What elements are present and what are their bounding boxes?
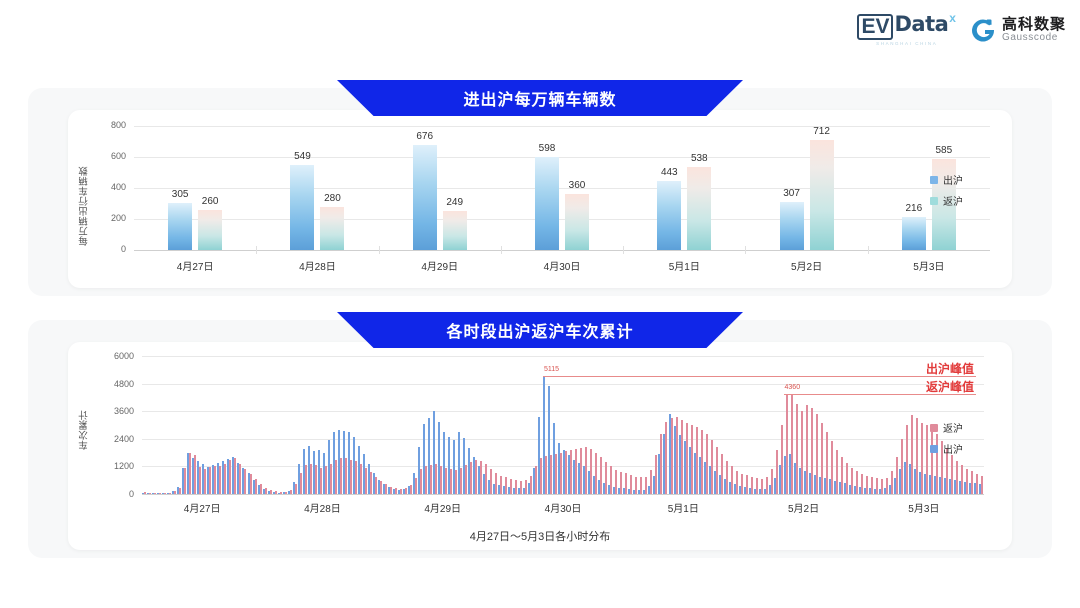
chart2-hour-bar (926, 425, 928, 494)
chart2-hour-bar (836, 450, 838, 494)
chart2-hour-bar (731, 466, 733, 494)
chart2-hour-bar (164, 493, 166, 494)
chart2-hour-bar (901, 439, 903, 494)
chart2-hour-bar (726, 461, 728, 494)
chart2-hour-bar (846, 463, 848, 494)
gausscode-logo: 高科数聚 Gausscode (970, 17, 1066, 43)
chart2-hour-bar (911, 415, 913, 494)
chart1-bar-value: 585 (924, 145, 964, 156)
chart2-hour-bar (916, 418, 918, 494)
chart2-hour-bar (585, 447, 587, 494)
chart2-hour-bar (650, 470, 652, 494)
chart2-hour-bar (305, 465, 307, 494)
chart1-y-tick: 600 (100, 151, 126, 161)
chart2-hour-bar (425, 466, 427, 494)
chart1-bar[interactable] (290, 165, 314, 250)
chart1-bar-value: 712 (802, 126, 842, 137)
chart2-hour-bar (786, 394, 788, 494)
chart2-hour-bar (330, 464, 332, 494)
chart2-hour-bar (144, 492, 146, 494)
chart2-hour-bar (776, 450, 778, 494)
chart2-hour-bar (696, 427, 698, 494)
chart2-hour-bar (600, 457, 602, 494)
panel-chart1-card: 每万辆出行车辆数 02004006008003052604月27日5492804… (68, 110, 1012, 288)
chart1-gridline (134, 157, 990, 158)
chart2-hour-bar (154, 493, 156, 494)
chart1-x-tick-label: 5月2日 (767, 258, 847, 273)
chart1-bar[interactable] (535, 157, 559, 250)
chart1-bar[interactable] (780, 202, 804, 250)
chart2-hour-bar (495, 473, 497, 494)
chart2-hour-bar (951, 455, 953, 494)
chart2-hour-bar (420, 469, 422, 494)
chart2-hour-bar (390, 487, 392, 494)
chart2-hour-bar (370, 472, 372, 494)
chart2-hour-bar (816, 414, 818, 495)
legend-swatch-fanhu2-icon (930, 424, 938, 432)
chart2-y-tick: 4800 (104, 379, 134, 389)
chart2-hour-bar (956, 461, 958, 494)
chart2-hour-bar (184, 468, 186, 494)
chart2-hour-bar (224, 464, 226, 494)
chart2-hour-bar (971, 471, 973, 494)
chart1-bar-value: 549 (282, 151, 322, 162)
chart2-y-tick: 6000 (104, 351, 134, 361)
chart1-bar-value: 280 (312, 193, 352, 204)
chart1-bar[interactable] (413, 145, 437, 250)
chart2-hour-bar (856, 471, 858, 494)
chart2-hour-bar (310, 464, 312, 494)
chart2-gridline (142, 356, 984, 357)
chart2-day-label: 4月29日 (403, 500, 483, 515)
chart2-hour-bar (169, 493, 171, 494)
chart1-y-tick: 400 (100, 182, 126, 192)
chart2-hour-bar (315, 465, 317, 494)
chart2-hour-bar (575, 449, 577, 494)
chart2-hour-bar (265, 488, 267, 494)
chart2-hour-bar (455, 470, 457, 494)
chart1-bar[interactable] (657, 181, 681, 250)
chart2-gridline (142, 439, 984, 440)
chart2-hour-bar (485, 464, 487, 494)
chart2-hour-bar (570, 450, 572, 494)
chart2-hour-bar (620, 472, 622, 494)
chart2-hour-bar (811, 408, 813, 494)
chart2-peak-value: 4360 (785, 384, 801, 391)
chart2-hour-bar (345, 458, 347, 494)
chart2-hour-bar (605, 462, 607, 494)
chart2-hour-bar (976, 474, 978, 494)
chart2-hour-bar (250, 474, 252, 494)
chart2-hour-bar (761, 479, 763, 494)
chart2-hour-bar (435, 464, 437, 494)
chart2-hour-bar (676, 417, 678, 494)
chart2-hour-bar (595, 453, 597, 494)
panel-chart2-card: 车次累计 0120024003600480060004月27日4月28日4月29… (68, 342, 1012, 550)
chart2-day-label: 5月1日 (643, 500, 723, 515)
chart2-hour-bar (806, 405, 808, 494)
chart2-hour-bar (550, 455, 552, 494)
chart2-hour-bar (821, 423, 823, 494)
chart2-hour-bar (234, 458, 236, 494)
chart2-hour-bar (660, 434, 662, 494)
chart1-bar-value: 216 (894, 203, 934, 214)
chart1-x-tick-label: 4月29日 (400, 258, 480, 273)
chart2-hour-bar (385, 484, 387, 494)
chart2-hour-bar (756, 478, 758, 494)
chart1-bar[interactable] (687, 167, 711, 250)
chart1-x-tick-label: 5月1日 (644, 258, 724, 273)
chart2-hour-bar (921, 423, 923, 494)
chart2-hour-bar (736, 471, 738, 494)
chart2-hour-bar (229, 460, 231, 495)
chart1-bar-value: 249 (435, 197, 475, 208)
chart2-day-label: 5月2日 (764, 500, 844, 515)
chart1-category-separator (623, 246, 624, 254)
chart2-hour-bar (781, 425, 783, 494)
chart2-peak-value: 5115 (544, 366, 559, 373)
chart2-hour-bar (400, 489, 402, 494)
chart2-hour-bar (851, 468, 853, 494)
chart2-hour-bar (640, 477, 642, 494)
chart2-hour-bar (239, 464, 241, 494)
chart2-hour-bar (415, 478, 417, 494)
chart2-hour-bar (525, 480, 527, 494)
chart2-hour-bar (445, 468, 447, 494)
chart2-hour-bar (711, 440, 713, 494)
chart2-hour-bar (480, 461, 482, 494)
evdata-ev-mark: EV (857, 14, 893, 40)
chart2-y-tick: 2400 (104, 434, 134, 444)
chart2-hour-bar (244, 469, 246, 494)
chart1-bar[interactable] (198, 210, 222, 250)
chart2-hour-bar (590, 449, 592, 494)
chart2-hour-bar (260, 484, 262, 494)
chart2-hour-bar (270, 490, 272, 494)
chart2-hour-bar (375, 477, 377, 494)
chart2-hour-bar (716, 447, 718, 494)
chart2-hour-bar (395, 488, 397, 494)
chart2-hour-bar (199, 467, 201, 494)
legend-item-chuhu-2[interactable]: 出沪 (930, 441, 963, 456)
page-root: EV Data x SHANGHAI CHINA 高科数聚 Gausscode (0, 0, 1080, 608)
chart2-hour-bar (540, 458, 542, 494)
chart1-category-separator (501, 246, 502, 254)
chart2-hour-bar (831, 441, 833, 494)
chart2-hour-bar (285, 492, 287, 494)
chart2-hour-bar (706, 434, 708, 494)
chart1-bar[interactable] (168, 203, 192, 250)
chart2-hour-bar (635, 477, 637, 494)
chart2-hour-bar (691, 425, 693, 494)
chart2-x-axis-subtitle: 4月27日～5月3日各小时分布 (68, 528, 1012, 544)
chart1-plot-area: 02004006008003052604月27日5492804月28日67624… (100, 126, 990, 276)
chart1-x-tick-label: 5月3日 (889, 258, 969, 273)
chart2-hour-bar (560, 453, 562, 494)
chart2-hour-bar (174, 491, 176, 494)
chart2-hour-bar (410, 485, 412, 494)
chart2-hour-bar (610, 466, 612, 494)
chart1-y-tick: 800 (100, 120, 126, 130)
chart2-hour-bar (430, 465, 432, 494)
chart2-hour-bar (625, 473, 627, 494)
chart2-hour-bar (671, 418, 673, 494)
chart2-hour-bar (290, 490, 292, 494)
chart1-bar-value: 360 (557, 180, 597, 191)
chart2-hour-bar (179, 488, 181, 494)
chart2-hour-bar (255, 479, 257, 494)
chart2-legend: 返沪 出沪 (930, 420, 963, 456)
chart2-hour-bar (871, 477, 873, 494)
chart1-bar-value: 538 (679, 153, 719, 164)
chart2-peak-label: 返沪峰值 (926, 378, 974, 395)
chart2-hour-bar (721, 454, 723, 494)
legend-label-chuhu: 出沪 (943, 172, 963, 187)
chart1-title: 进出沪每万辆车辆数 (463, 86, 616, 110)
chart2-hour-bar (340, 458, 342, 494)
chart1-bar[interactable] (320, 207, 344, 250)
legend-label-fanhu: 返沪 (943, 193, 963, 208)
legend-item-fanhu[interactable]: 返沪 (930, 193, 963, 208)
evdata-tagline: SHANGHAI CHINA (876, 42, 937, 47)
chart2-hour-bar (490, 469, 492, 494)
chart2-hour-bar (209, 467, 211, 494)
chart1-gridline (134, 126, 990, 127)
chart2-hour-bar (891, 471, 893, 494)
chart2-title-banner: 各时段出沪返沪车次累计 (337, 312, 743, 348)
chart1-legend: 出沪 返沪 (930, 172, 963, 208)
chart2-hour-bar (500, 476, 502, 494)
chart2-hour-bar (981, 476, 983, 494)
chart2-hour-bar (555, 454, 557, 494)
chart1-bar[interactable] (810, 140, 834, 250)
chart1-axis-line (134, 250, 990, 251)
chart2-hour-bar (295, 484, 297, 494)
chart2-hour-bar (535, 466, 537, 494)
chart2-day-label: 5月3日 (884, 500, 964, 515)
chart2-hour-bar (275, 491, 277, 494)
chart2-hour-bar (771, 469, 773, 494)
chart1-bar-value: 307 (772, 188, 812, 199)
chart2-hour-bar (149, 493, 151, 494)
chart2-hour-bar (580, 448, 582, 494)
chart2-hour-bar (766, 477, 768, 494)
chart2-day-label: 4月28日 (282, 500, 362, 515)
legend-swatch-chuhu-icon (930, 176, 938, 184)
legend-label-chuhu-2: 出沪 (943, 441, 963, 456)
chart2-hour-bar (214, 466, 216, 494)
gausscode-name-cn: 高科数聚 (1002, 17, 1066, 33)
legend-item-fanhu-2[interactable]: 返沪 (930, 420, 963, 435)
chart2-hour-bar (615, 470, 617, 494)
chart2-hour-bar (520, 481, 522, 494)
chart1-y-axis-label: 每万辆出行车辆数 (78, 146, 92, 246)
chart2-hour-bar (886, 478, 888, 494)
chart1-bar-value: 260 (190, 196, 230, 207)
chart1-x-tick-label: 4月27日 (155, 258, 235, 273)
chart2-hour-bar (320, 468, 322, 494)
chart2-plot-area: 0120024003600480060004月27日4月28日4月29日4月30… (104, 356, 984, 516)
evdata-x-icon: x (949, 12, 956, 24)
chart1-bar[interactable] (443, 211, 467, 250)
gausscode-mark-icon (970, 17, 996, 43)
legend-swatch-chuhu2-icon (930, 445, 938, 453)
chart2-hour-bar (300, 473, 302, 494)
chart1-category-separator (745, 246, 746, 254)
chart2-hour-bar (796, 404, 798, 494)
chart1-category-separator (868, 246, 869, 254)
legend-label-fanhu-2: 返沪 (943, 420, 963, 435)
chart2-hour-bar (475, 460, 477, 495)
chart2-y-tick: 3600 (104, 406, 134, 416)
chart2-hour-bar (966, 469, 968, 494)
chart2-gridline (142, 384, 984, 385)
chart2-hour-bar (896, 457, 898, 494)
chart2-hour-bar (204, 469, 206, 494)
chart2-hour-bar (335, 460, 337, 495)
chart2-hour-bar (465, 465, 467, 494)
chart1-y-tick: 200 (100, 213, 126, 223)
chart2-hour-bar (360, 464, 362, 494)
chart2-hour-bar (194, 455, 196, 494)
chart2-hour-bar (510, 479, 512, 494)
chart2-hour-bar (505, 477, 507, 494)
chart2-hour-bar (801, 411, 803, 494)
chart1-x-tick-label: 4月30日 (522, 258, 602, 273)
chart2-hour-bar (460, 468, 462, 494)
chart2-hour-bar (545, 456, 547, 494)
chart2-title: 各时段出沪返沪车次累计 (446, 318, 633, 342)
evdata-wordmark: Data (894, 14, 948, 35)
chart2-peak-line (543, 376, 976, 377)
chart2-hour-bar (530, 476, 532, 494)
chart2-hour-bar (841, 457, 843, 494)
chart1-bar-value: 598 (527, 143, 567, 154)
chart2-hour-bar (405, 488, 407, 494)
chart2-hour-bar (701, 430, 703, 494)
chart2-hour-bar (866, 476, 868, 494)
chart1-category-separator (379, 246, 380, 254)
chart2-day-label: 4月27日 (162, 500, 242, 515)
chart1-bar-value: 676 (405, 131, 445, 142)
chart1-category-separator (256, 246, 257, 254)
chart2-peak-label: 出沪峰值 (926, 360, 974, 377)
chart2-hour-bar (665, 422, 667, 494)
evdata-logo: EV Data x SHANGHAI CHINA (857, 14, 956, 47)
chart2-hour-bar (741, 474, 743, 494)
chart2-hour-bar (325, 466, 327, 494)
chart2-hour-bar (450, 469, 452, 494)
chart2-hour-bar (751, 477, 753, 494)
chart2-hour-bar (876, 478, 878, 494)
chart2-axis-line (142, 494, 984, 495)
chart2-hour-bar (470, 462, 472, 494)
page-header: EV Data x SHANGHAI CHINA 高科数聚 Gausscode (0, 0, 1080, 62)
chart2-hour-bar (655, 455, 657, 494)
chart2-hour-bar (881, 479, 883, 494)
chart2-hour-bar (746, 475, 748, 494)
chart2-hour-bar (906, 425, 908, 494)
chart2-hour-bar (791, 395, 793, 494)
chart2-hour-bar (645, 477, 647, 494)
chart2-day-label: 4月30日 (523, 500, 603, 515)
chart2-hour-bar (861, 474, 863, 494)
chart2-hour-bar (686, 423, 688, 494)
chart2-y-tick: 0 (104, 489, 134, 499)
chart2-hour-bar (365, 468, 367, 494)
chart1-bar[interactable] (902, 217, 926, 250)
chart2-hour-bar (350, 460, 352, 495)
chart2-hour-bar (961, 465, 963, 494)
chart2-hour-bar (380, 481, 382, 494)
legend-swatch-fanhu-icon (930, 197, 938, 205)
chart2-hour-bar (826, 432, 828, 494)
chart1-bar-value: 443 (649, 167, 689, 178)
chart2-hour-bar (280, 492, 282, 494)
legend-item-chuhu[interactable]: 出沪 (930, 172, 963, 187)
chart2-gridline (142, 411, 984, 412)
chart1-title-banner: 进出沪每万辆车辆数 (337, 80, 743, 116)
chart2-hour-bar (355, 461, 357, 494)
gausscode-name-en: Gausscode (1002, 33, 1066, 44)
chart2-y-tick: 1200 (104, 461, 134, 471)
chart1-y-tick: 0 (100, 244, 126, 254)
chart2-hour-bar (189, 453, 191, 494)
chart1-gridline (134, 219, 990, 220)
chart2-y-axis-label: 车次累计 (78, 390, 92, 450)
brand-logos: EV Data x SHANGHAI CHINA 高科数聚 Gausscode (857, 14, 1066, 47)
chart2-hour-bar (219, 466, 221, 494)
chart2-hour-bar (565, 451, 567, 494)
chart2-hour-bar (440, 466, 442, 494)
chart1-bar[interactable] (565, 194, 589, 250)
chart2-hour-bar (681, 420, 683, 494)
chart1-x-tick-label: 4月28日 (277, 258, 357, 273)
chart2-hour-bar (630, 475, 632, 494)
chart2-hour-bar (159, 493, 161, 494)
chart2-hour-bar (515, 480, 517, 494)
